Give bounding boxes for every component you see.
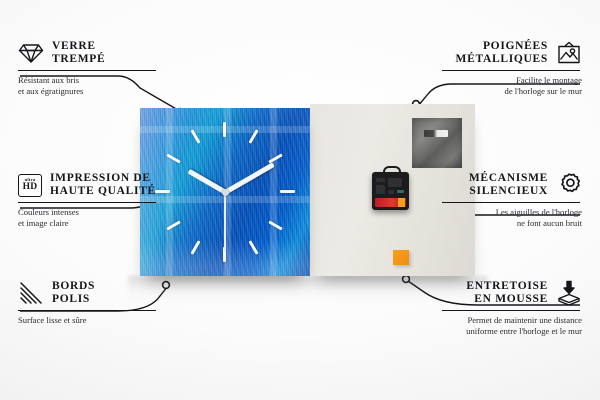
feature-description: Facilite le montage de l'horloge sur le … <box>442 75 582 96</box>
feature-rule <box>18 70 156 71</box>
feature-title: MÉCANISME SILENCIEUX <box>469 172 548 198</box>
clock-hub <box>222 189 229 196</box>
mechanism-vent <box>397 190 404 193</box>
feature-title: IMPRESSION DE HAUTE QUALITÉ <box>50 172 156 198</box>
mechanism-hook-icon <box>383 166 401 176</box>
polished-edges-icon <box>18 281 44 305</box>
feature-description: Les aiguilles de l'horloge ne font aucun… <box>442 207 582 228</box>
feature-description: Surface lisse et sûre <box>18 315 158 326</box>
feature-rule <box>442 202 580 203</box>
mechanism-vent <box>388 178 402 187</box>
mechanism-vent <box>388 190 394 194</box>
clock-hand-minute <box>224 162 275 194</box>
surface-reflection <box>128 276 488 302</box>
battery-terminal <box>398 198 405 207</box>
feature-verre-trempe: VERRE TREMPÉ Résistant aux bris et aux é… <box>18 40 158 96</box>
mechanism-vent <box>376 185 385 194</box>
feature-rule <box>442 310 580 311</box>
picture-frame-hanger-icon <box>556 41 582 66</box>
clock-tick <box>248 240 258 254</box>
feature-title: POIGNÉES MÉTALLIQUES <box>456 40 548 66</box>
feature-rule <box>18 310 156 311</box>
pattern-line <box>270 108 277 276</box>
feature-description: Couleurs intenses et image claire <box>18 207 158 228</box>
diamond-icon <box>18 42 44 64</box>
infographic-canvas: VERRE TREMPÉ Résistant aux bris et aux é… <box>0 0 600 400</box>
clock-mechanism <box>372 172 409 210</box>
hanger-slot <box>424 130 448 137</box>
gear-icon <box>556 172 582 198</box>
clock-hand-second <box>224 192 225 252</box>
clock-hand-hour <box>188 169 227 194</box>
clock-tick <box>223 122 226 137</box>
clock-tick <box>190 240 200 254</box>
foam-spacer <box>393 250 409 265</box>
ultra-hd-icon: ultra HD <box>18 174 42 197</box>
battery <box>375 198 406 207</box>
feature-title: BORDS POLIS <box>52 280 95 306</box>
mechanism-vent <box>376 178 385 182</box>
metal-hanger-plate <box>412 118 462 168</box>
feature-mecanisme-silencieux: MÉCANISME SILENCIEUX Les aiguilles de l'… <box>442 172 582 228</box>
feature-entretoise-en-mousse: ENTRETOISE EN MOUSSE Permet de maintenir… <box>442 280 582 336</box>
feature-impression-haute-qualite: ultra HD IMPRESSION DE HAUTE QUALITÉ Cou… <box>18 172 158 228</box>
feature-rule <box>18 202 156 203</box>
clock-face <box>140 108 310 276</box>
foam-spacer-icon <box>556 280 582 306</box>
feature-title: ENTRETOISE EN MOUSSE <box>466 280 548 306</box>
feature-poignees-metalliques: POIGNÉES MÉTALLIQUES Facilite le montage… <box>442 40 582 96</box>
feature-bords-polis: BORDS POLIS Surface lisse et sûre <box>18 280 158 326</box>
feature-description: Permet de maintenir une distance uniform… <box>442 315 582 336</box>
clock-tick <box>280 190 295 193</box>
feature-title: VERRE TREMPÉ <box>52 40 105 66</box>
feature-description: Résistant aux bris et aux égratignures <box>18 75 158 96</box>
feature-rule <box>442 70 580 71</box>
